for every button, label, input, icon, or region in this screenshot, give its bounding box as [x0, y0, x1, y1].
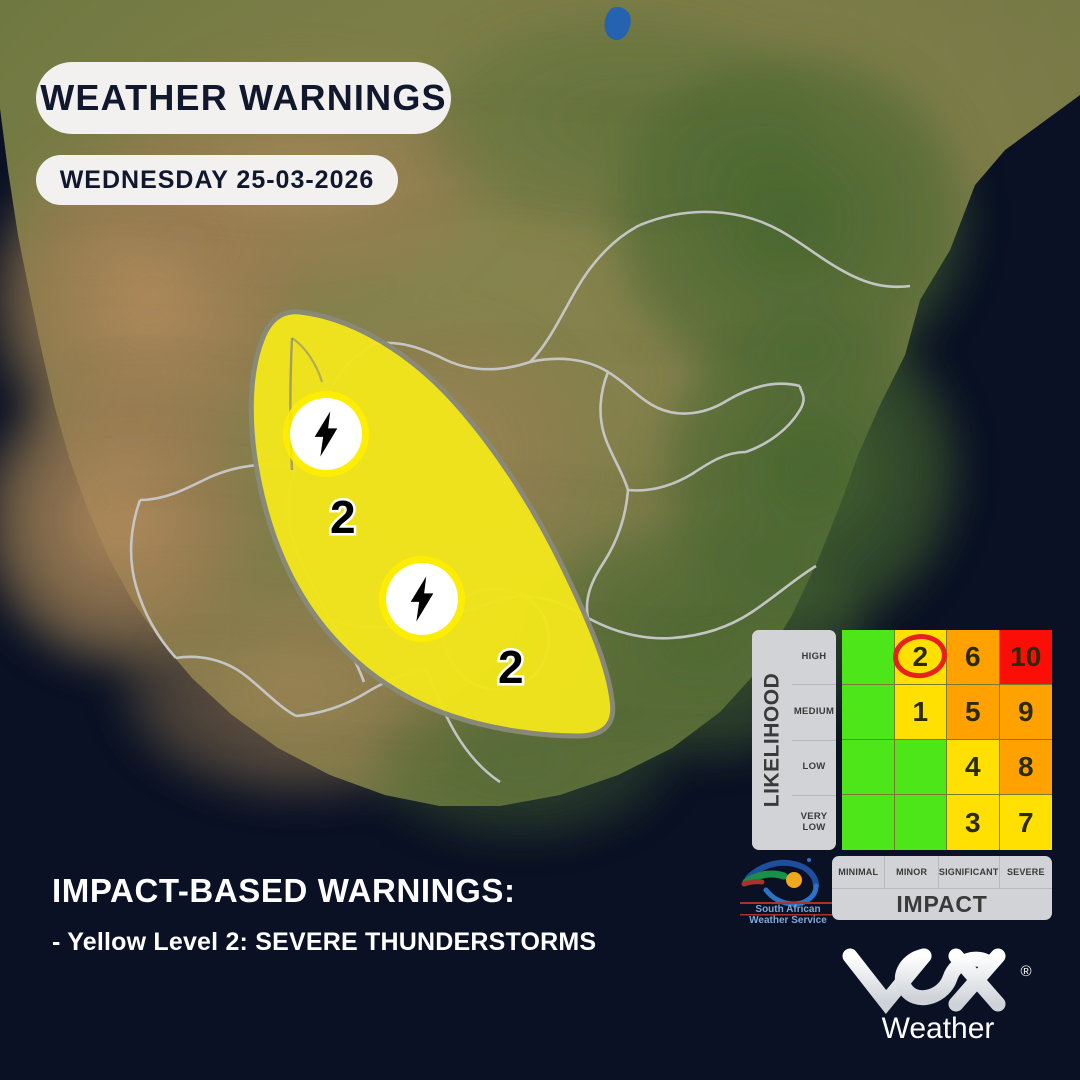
- matrix-cell[interactable]: 8: [1000, 740, 1053, 795]
- likelihood-row-low: LOW: [792, 740, 836, 795]
- likelihood-row-high: HIGH: [792, 630, 836, 684]
- impact-col-significant: SIGNIFICANT: [939, 856, 1000, 888]
- lightning-bolt-glyph: [405, 576, 439, 622]
- matrix-cell[interactable]: [842, 630, 895, 685]
- matrix-cell[interactable]: 9: [1000, 685, 1053, 740]
- impact-axis-title: IMPACT: [832, 888, 1052, 920]
- matrix-cell[interactable]: 1: [895, 685, 948, 740]
- matrix-cell-value: 7: [1018, 807, 1034, 839]
- vox-weather-logo: ® Weather: [838, 938, 1038, 1048]
- matrix-highlight-ring: [891, 631, 949, 680]
- risk-matrix: LIKELIHOOD HIGH MEDIUM LOW VERY LOW 2 6 …: [752, 630, 1052, 850]
- saws-emblem-icon: [744, 858, 816, 904]
- registered-trademark-icon: ®: [1020, 963, 1031, 980]
- impact-column-labels: MINIMAL MINOR SIGNIFICANT SEVERE: [832, 856, 1052, 888]
- impact-col-minor: MINOR: [885, 856, 938, 888]
- forecast-date: WEDNESDAY 25-03-2026: [36, 155, 398, 205]
- matrix-cell[interactable]: 2: [895, 630, 948, 685]
- warning-level-label: 2: [330, 490, 356, 544]
- saws-line2: Weather Service: [749, 915, 827, 924]
- impact-axis: MINIMAL MINOR SIGNIFICANT SEVERE IMPACT: [832, 856, 1052, 920]
- matrix-cell[interactable]: 6: [947, 630, 1000, 685]
- lightning-bolt-icon: [386, 563, 458, 635]
- matrix-cell[interactable]: 3: [947, 795, 1000, 850]
- matrix-cell[interactable]: [842, 740, 895, 795]
- saws-logo: South African Weather Service: [738, 852, 838, 924]
- likelihood-axis: LIKELIHOOD HIGH MEDIUM LOW VERY LOW: [752, 630, 836, 850]
- page-title: WEATHER WARNINGS: [36, 62, 451, 134]
- matrix-cell-value: 10: [1010, 641, 1041, 673]
- likelihood-row-labels: HIGH MEDIUM LOW VERY LOW: [792, 630, 836, 850]
- matrix-cell-value: 9: [1018, 696, 1034, 728]
- likelihood-row-very-low: VERY LOW: [792, 795, 836, 850]
- impact-warnings-heading: IMPACT-BASED WARNINGS:: [52, 872, 516, 910]
- matrix-cell-value: 5: [965, 696, 981, 728]
- impact-warning-item: - Yellow Level 2: SEVERE THUNDERSTORMS: [52, 928, 596, 957]
- vox-wordmark-icon: [850, 956, 998, 1004]
- matrix-cell-value: 1: [912, 696, 928, 728]
- risk-matrix-grid: 2 6 10 1 5 9 4 8 3 7: [842, 630, 1052, 850]
- matrix-cell-value: 3: [965, 807, 981, 839]
- impact-col-severe: SEVERE: [1000, 856, 1052, 888]
- lightning-bolt-glyph: [309, 411, 343, 457]
- matrix-cell-value: 4: [965, 751, 981, 783]
- matrix-cell[interactable]: 4: [947, 740, 1000, 795]
- matrix-cell-value: 8: [1018, 751, 1034, 783]
- warning-level-value: 2: [498, 641, 524, 693]
- vox-logo-svg: ® Weather: [838, 938, 1038, 1048]
- warning-level-label: 2: [498, 640, 524, 694]
- weather-warning-graphic: WEATHER WARNINGS WEDNESDAY 25-03-2026 2 …: [0, 0, 1080, 1080]
- matrix-cell[interactable]: [895, 740, 948, 795]
- likelihood-row-medium: MEDIUM: [792, 684, 836, 739]
- warning-level-value: 2: [330, 491, 356, 543]
- matrix-cell[interactable]: 10: [1000, 630, 1053, 685]
- likelihood-axis-title: LIKELIHOOD: [752, 630, 792, 850]
- matrix-cell[interactable]: [895, 795, 948, 850]
- matrix-cell[interactable]: 7: [1000, 795, 1053, 850]
- matrix-cell-value: 6: [965, 641, 981, 673]
- lightning-bolt-icon: [290, 398, 362, 470]
- matrix-cell[interactable]: [842, 795, 895, 850]
- saws-line1: South African: [755, 904, 820, 915]
- matrix-cell[interactable]: 5: [947, 685, 1000, 740]
- vox-subtitle: Weather: [882, 1012, 995, 1045]
- saws-logo-svg: South African Weather Service: [738, 852, 838, 924]
- matrix-cell[interactable]: [842, 685, 895, 740]
- likelihood-axis-title-text: LIKELIHOOD: [760, 673, 784, 808]
- impact-col-minimal: MINIMAL: [832, 856, 885, 888]
